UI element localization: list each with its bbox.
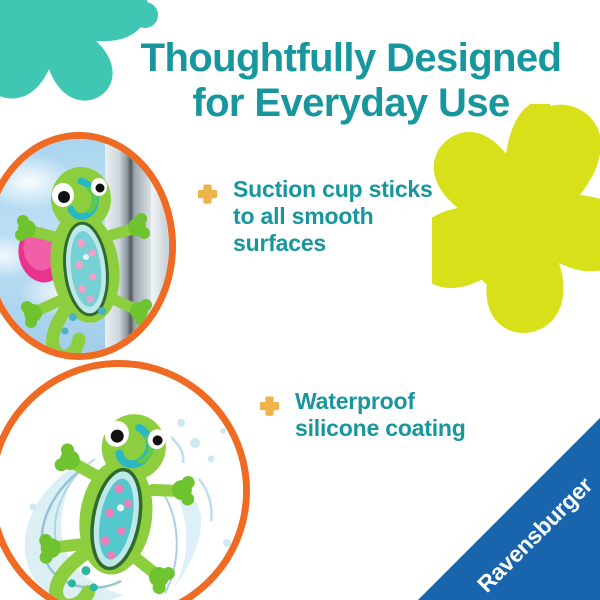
gecko-on-window-photo — [0, 132, 176, 360]
headline-line-2: for Everyday Use — [118, 81, 584, 126]
page-title: Thoughtfully Designed for Everyday Use — [118, 36, 584, 126]
water-splash-illustration — [0, 367, 243, 600]
feature-1-line-2: to all smooth — [233, 203, 433, 230]
plus-icon — [196, 183, 219, 206]
headline-line-1: Thoughtfully Designed — [141, 36, 562, 80]
brand-corner: Ravensburger — [418, 418, 600, 600]
feature-text: Suction cup sticks to all smooth surface… — [233, 176, 433, 257]
teal-dot-decoration — [132, 2, 158, 28]
marketing-banner: Thoughtfully Designed for Everyday Use — [0, 0, 600, 600]
photo-inner — [0, 139, 169, 353]
feature-suction-cup: Suction cup sticks to all smooth surface… — [196, 176, 486, 257]
gecko-toy-illustration — [0, 139, 169, 353]
feature-2-line-1: Waterproof — [295, 388, 466, 415]
plus-icon — [258, 395, 281, 418]
feature-1-line-1: Suction cup sticks — [233, 176, 433, 203]
photo-inner — [0, 367, 243, 600]
feature-1-line-3: surfaces — [233, 230, 433, 257]
gecko-water-splash-photo — [0, 360, 250, 600]
